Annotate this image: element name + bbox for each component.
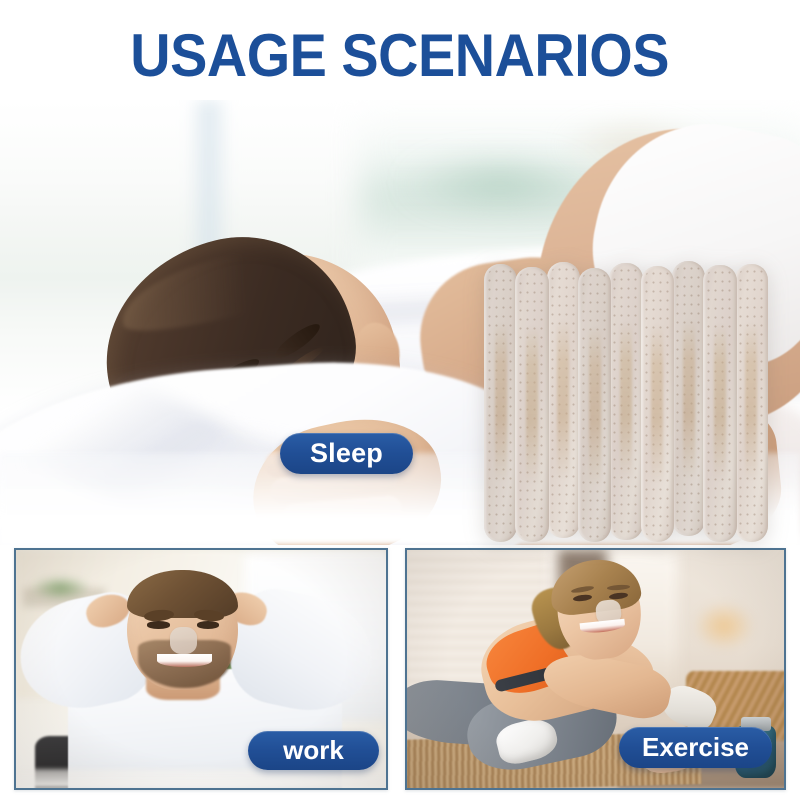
nasal-strip [609, 263, 642, 540]
work-man-eye [147, 621, 169, 628]
nasal-strip [515, 267, 548, 542]
work-man-eye [197, 621, 219, 628]
badge-sleep-label: Sleep [310, 438, 383, 469]
nasal-strip [672, 261, 705, 536]
nasal-strip [641, 266, 674, 542]
office-plant-shelf [31, 576, 90, 600]
nasal-strip [735, 264, 768, 542]
badge-work-label: work [283, 735, 344, 766]
nasal-strip [547, 262, 580, 538]
page-title-text: USAGE SCENARIOS [131, 26, 670, 86]
page-title: USAGE SCENARIOS [0, 20, 800, 92]
nasal-strip-sheet [484, 264, 766, 542]
work-man-smile [157, 654, 213, 667]
badge-exercise[interactable]: Exercise [619, 727, 772, 768]
nasal-strip [703, 265, 736, 542]
gym-lamp [694, 602, 754, 650]
nasal-strip [578, 268, 611, 542]
nasal-strip-on-nose [170, 627, 198, 653]
badge-exercise-label: Exercise [642, 732, 749, 763]
infographic-page: USAGE SCENARIOS [0, 0, 800, 800]
badge-sleep[interactable]: Sleep [280, 433, 413, 474]
nasal-strip [484, 264, 517, 542]
badge-work[interactable]: work [248, 731, 379, 770]
office-desk [16, 769, 386, 788]
